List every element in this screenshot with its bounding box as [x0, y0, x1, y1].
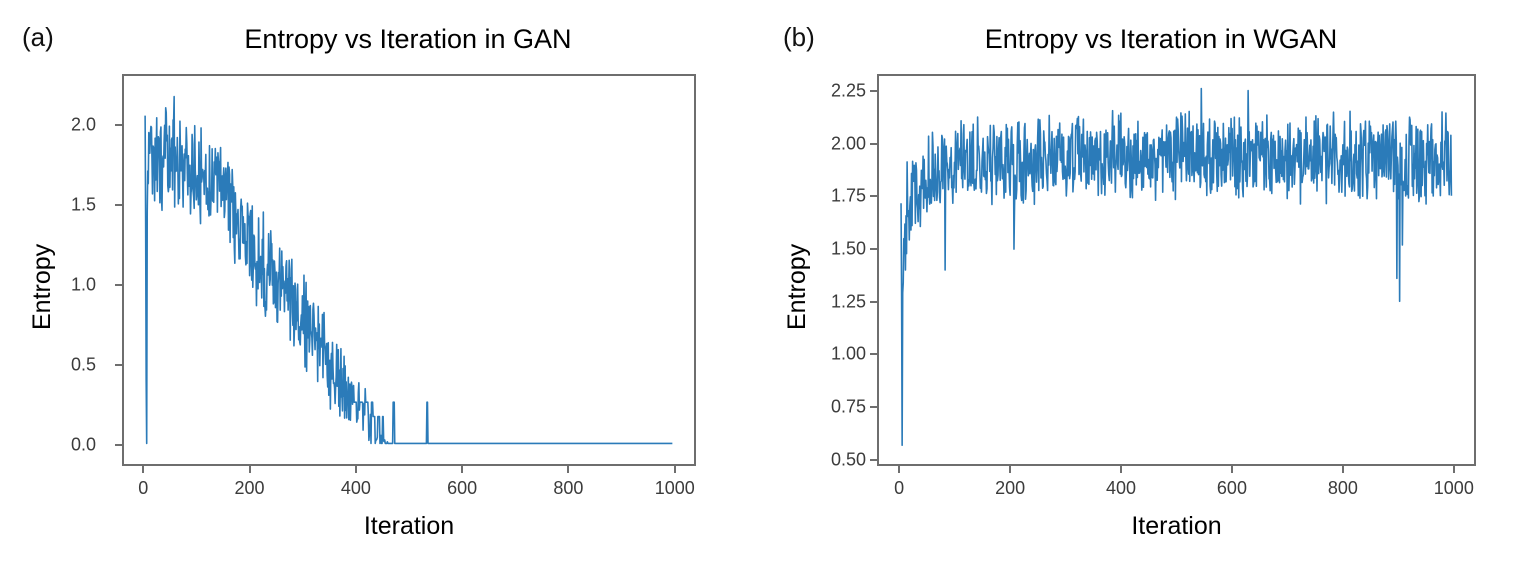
- y-tick-mark: [115, 364, 122, 366]
- y-tick-mark: [115, 284, 122, 286]
- x-tick-label: 400: [316, 478, 396, 499]
- y-tick-label: 1.5: [16, 195, 96, 216]
- x-tick-label: 400: [1081, 478, 1161, 499]
- y-tick-mark: [870, 353, 877, 355]
- y-tick-mark: [115, 444, 122, 446]
- y-tick-mark: [870, 301, 877, 303]
- y-tick-mark: [870, 248, 877, 250]
- x-tick-mark: [1342, 466, 1344, 473]
- x-tick-mark: [674, 466, 676, 473]
- x-tick-label: 800: [1303, 478, 1383, 499]
- x-tick-mark: [1120, 466, 1122, 473]
- x-tick-mark: [567, 466, 569, 473]
- x-tick-mark: [461, 466, 463, 473]
- y-tick-label: 2.0: [16, 115, 96, 136]
- y-tick-label: 1.00: [776, 344, 866, 365]
- panel-b: (b) Entropy vs Iteration in WGAN Iterati…: [761, 0, 1522, 582]
- y-tick-label: 1.50: [776, 238, 866, 259]
- y-tick-label: 0.75: [776, 396, 866, 417]
- plot-area-a: [122, 74, 696, 466]
- panel-label-b: (b): [783, 22, 815, 53]
- x-tick-mark: [898, 466, 900, 473]
- x-tick-label: 600: [1192, 478, 1272, 499]
- x-tick-label: 800: [528, 478, 608, 499]
- y-tick-label: 2.25: [776, 80, 866, 101]
- y-tick-label: 0.50: [776, 449, 866, 470]
- y-tick-label: 2.00: [776, 133, 866, 154]
- x-tick-mark: [1453, 466, 1455, 473]
- x-tick-mark: [355, 466, 357, 473]
- figure-container: (a) Entropy vs Iteration in GAN Iteratio…: [0, 0, 1522, 582]
- x-axis-label-b: Iteration: [877, 512, 1476, 541]
- y-tick-mark: [870, 90, 877, 92]
- y-tick-label: 0.5: [16, 355, 96, 376]
- chart-title-b: Entropy vs Iteration in WGAN: [861, 24, 1461, 55]
- x-tick-mark: [1231, 466, 1233, 473]
- y-tick-mark: [870, 143, 877, 145]
- y-tick-label: 1.25: [776, 291, 866, 312]
- x-tick-label: 1000: [1414, 478, 1494, 499]
- panel-label-a: (a): [22, 22, 54, 53]
- panel-a: (a) Entropy vs Iteration in GAN Iteratio…: [0, 0, 761, 582]
- x-axis-label-a: Iteration: [122, 512, 696, 541]
- x-tick-label: 200: [970, 478, 1050, 499]
- x-tick-label: 1000: [635, 478, 715, 499]
- y-tick-label: 0.0: [16, 435, 96, 456]
- x-tick-label: 0: [103, 478, 183, 499]
- line-chart-wgan: [879, 76, 1474, 464]
- x-tick-mark: [249, 466, 251, 473]
- y-tick-mark: [870, 406, 877, 408]
- plot-area-b: [877, 74, 1476, 466]
- x-tick-mark: [142, 466, 144, 473]
- y-tick-mark: [870, 459, 877, 461]
- x-tick-mark: [1009, 466, 1011, 473]
- chart-title-a: Entropy vs Iteration in GAN: [120, 24, 696, 55]
- x-tick-label: 0: [859, 478, 939, 499]
- line-chart-gan: [124, 76, 694, 464]
- x-tick-label: 200: [210, 478, 290, 499]
- y-tick-label: 1.75: [776, 186, 866, 207]
- x-tick-label: 600: [422, 478, 502, 499]
- y-tick-mark: [870, 195, 877, 197]
- y-tick-label: 1.0: [16, 275, 96, 296]
- y-tick-mark: [115, 204, 122, 206]
- y-tick-mark: [115, 124, 122, 126]
